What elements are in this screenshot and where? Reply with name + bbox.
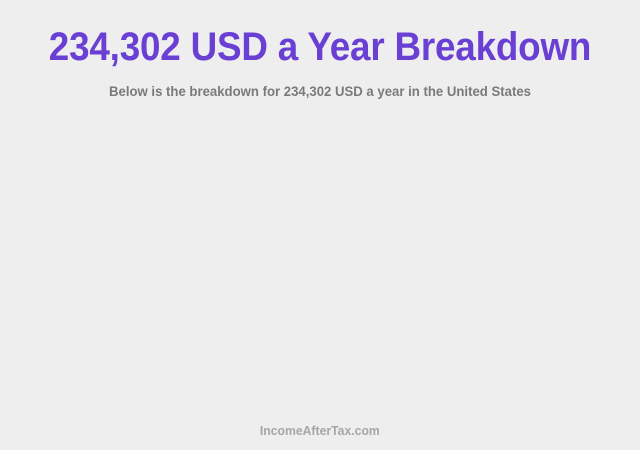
site-watermark: IncomeAfterTax.com	[260, 423, 380, 439]
chart-plot-area	[0, 120, 640, 410]
page-subtitle: Below is the breakdown for 234,302 USD a…	[19, 70, 621, 100]
income-breakdown-page: 234,302 USD a Year Breakdown Below is th…	[0, 0, 640, 450]
page-header: 234,302 USD a Year Breakdown Below is th…	[0, 0, 640, 100]
page-footer: IncomeAfterTax.com	[0, 422, 640, 440]
page-title: 234,302 USD a Year Breakdown	[26, 0, 615, 70]
